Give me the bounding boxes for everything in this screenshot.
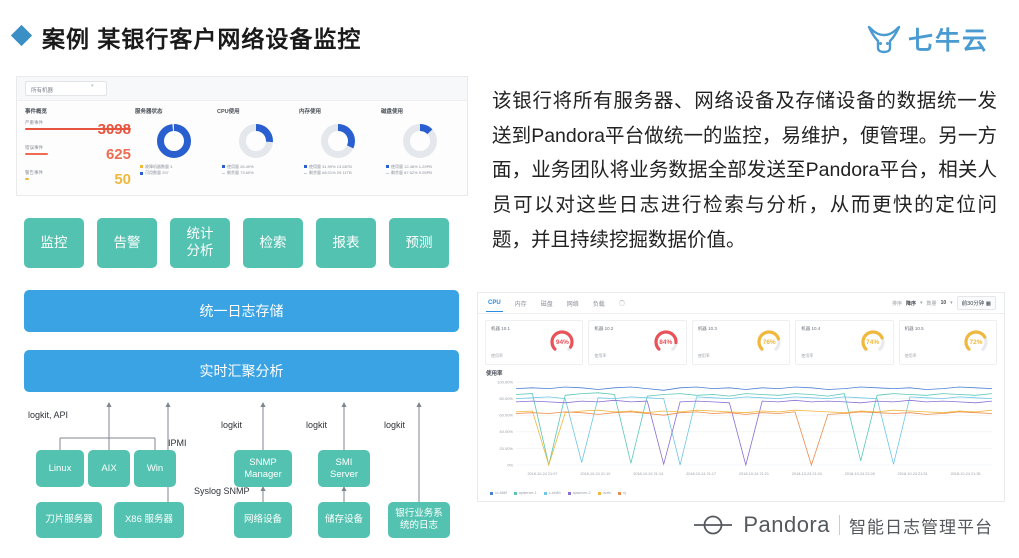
- tab-disk[interactable]: 磁盘: [541, 299, 553, 308]
- architecture-node-label: Linux: [49, 463, 72, 475]
- sort-value[interactable]: 降序: [906, 300, 916, 307]
- dashboard-body: 事件概览 严重事件3098错误事件625警告事件50 服务器状态故障机器数量 3…: [17, 101, 467, 195]
- protocol-label: Syslog SNMP: [194, 486, 250, 496]
- gauge-card-sub: 使用率: [698, 353, 710, 359]
- chevron-down-icon: ▾: [950, 300, 953, 306]
- gauge-graphic: 72%: [961, 327, 991, 362]
- architecture-node-label: 网络设备: [244, 514, 282, 526]
- donut-graphic: [135, 118, 213, 164]
- diamond-icon: [11, 25, 32, 46]
- realtime-analysis-label: 实时汇聚分析: [200, 361, 284, 381]
- protocol-label: logkit: [306, 420, 327, 430]
- donut-legend-item: 剩余量 87.52% 9.05PB: [386, 170, 459, 176]
- donut-graphic: [217, 118, 295, 164]
- capability-label: 检索: [260, 235, 287, 252]
- donut-title: CPU使用: [217, 107, 295, 115]
- svg-text:2018-10-24 21:17: 2018-10-24 21:17: [686, 472, 716, 476]
- capability-label: 告警: [114, 235, 141, 252]
- capability-monitor[interactable]: 监控: [24, 218, 84, 268]
- architecture-node[interactable]: 储存设备: [318, 502, 370, 538]
- event-overview-title: 事件概览: [25, 107, 131, 115]
- gauge-card-sub: 使用率: [905, 353, 917, 359]
- legend-item[interactable]: apiserver-1: [514, 491, 537, 495]
- logo-text: 七牛云: [908, 21, 989, 57]
- gauge-card[interactable]: 机器 10.4使用率74%: [795, 320, 893, 365]
- capability-label: 预测: [406, 235, 433, 252]
- svg-text:0%: 0%: [507, 462, 513, 467]
- unified-log-storage-bar[interactable]: 统一日志存储: [24, 290, 459, 332]
- svg-text:2018-10-24 21:31: 2018-10-24 21:31: [898, 472, 928, 476]
- protocol-label: logkit, API: [28, 410, 68, 420]
- count-value[interactable]: 10: [941, 300, 947, 306]
- gauge-value: 74%: [858, 339, 888, 346]
- machine-selector[interactable]: 所有机器: [25, 81, 107, 96]
- legend-item[interactable]: c-ldn6h: [544, 491, 561, 495]
- architecture-node[interactable]: Linux: [36, 450, 84, 487]
- time-range-picker[interactable]: 前30分钟 ▦: [957, 296, 996, 310]
- donut-card: CPU使用使用量 26.40%剩余量 73.60%: [213, 107, 295, 195]
- svg-text:100.00%: 100.00%: [497, 379, 513, 384]
- svg-text:2018-10-24 21:28: 2018-10-24 21:28: [845, 472, 875, 476]
- gauge-value: 76%: [754, 339, 784, 346]
- protocol-label: logkit: [221, 420, 242, 430]
- gauge-card-name: 机器 10.4: [801, 326, 820, 332]
- architecture-node-label: 银行业务系统的日志: [395, 508, 443, 532]
- chevron-down-icon: ▾: [91, 83, 94, 89]
- legend-item[interactable]: cc-686f: [490, 491, 507, 495]
- architecture-node[interactable]: SMIServer: [318, 450, 370, 487]
- gauge-graphic: 76%: [754, 327, 784, 362]
- svg-text:40.00%: 40.00%: [499, 429, 513, 434]
- capability-forecast[interactable]: 预测: [389, 218, 449, 268]
- architecture-node-label: X86 服务器: [125, 514, 173, 526]
- gauge-card[interactable]: 机器 10.2使用率84%: [588, 320, 686, 365]
- chart-controls: 排序 降序 ▾ 数量 10 ▾ 前30分钟 ▦: [892, 296, 996, 310]
- donut-charts: 服务器状态故障机器数量 3可用数量 257CPU使用使用量 26.40%剩余量 …: [131, 107, 459, 195]
- capability-label: 报表: [333, 235, 360, 252]
- gauge-card[interactable]: 机器 10.5使用率72%: [899, 320, 997, 365]
- metric-gauge-cards: 机器 10.1使用率94%机器 10.2使用率84%机器 10.3使用率76%机…: [478, 314, 1004, 369]
- legend-item[interactable]: apiserver-2: [568, 491, 591, 495]
- gauge-card[interactable]: 机器 10.3使用率76%: [692, 320, 790, 365]
- svg-text:20.00%: 20.00%: [499, 446, 513, 451]
- donut-legend-item: 可用数量 257: [140, 170, 213, 176]
- brand-logo: 七牛云: [867, 21, 989, 57]
- svg-text:2018-10-24 21:10: 2018-10-24 21:10: [580, 472, 610, 476]
- page-header: 案例 某银行客户网络设备监控 七牛云: [0, 0, 1019, 68]
- usage-line-chart: 使用率 0%20.00%40.00%60.00%80.00%100.00%201…: [478, 369, 1004, 479]
- machine-selector-value: 所有机器: [31, 88, 53, 94]
- architecture-node-label: Win: [147, 463, 163, 475]
- architecture-node-label: 刀片服务器: [45, 514, 93, 526]
- left-dashboard-screenshot: 所有机器 ▾ 事件概览 严重事件3098错误事件625警告事件50 服务器状态故…: [16, 76, 468, 196]
- architecture-node[interactable]: AIX: [88, 450, 130, 487]
- capability-label: 统计分析: [187, 226, 214, 260]
- gauge-value: 84%: [651, 339, 681, 346]
- saturn-ring-icon: [692, 513, 734, 537]
- donut-card: 磁盘使用使用量 12.48% 1.29PB剩余量 87.52% 9.05PB: [377, 107, 459, 195]
- gauge-graphic: 74%: [858, 327, 888, 362]
- divider: [839, 515, 840, 535]
- dashboard-toolbar: 所有机器 ▾: [17, 77, 467, 101]
- donut-title: 内存使用: [299, 107, 377, 115]
- donut-title: 磁盘使用: [381, 107, 459, 115]
- donut-card: 服务器状态故障机器数量 3可用数量 257: [131, 107, 213, 195]
- realtime-analysis-bar[interactable]: 实时汇聚分析: [24, 350, 459, 392]
- event-bar: [25, 153, 48, 155]
- bull-head-icon: [867, 24, 901, 54]
- donut-graphic: [381, 118, 459, 164]
- gauge-card[interactable]: 机器 10.1使用率94%: [485, 320, 583, 365]
- architecture-diagram: logkit, APIIPMIlogkitlogkitlogkitSyslog …: [16, 400, 471, 555]
- event-value: 50: [114, 172, 131, 187]
- gauge-value: 94%: [547, 339, 577, 346]
- event-value: 625: [106, 147, 131, 162]
- gauge-graphic: 84%: [651, 327, 681, 362]
- description-paragraph: 该银行将所有服务器、网络设备及存储设备的数据统一发送到Pandora平台做统一的…: [492, 84, 997, 258]
- gauge-card-name: 机器 10.1: [491, 326, 510, 332]
- protocol-label: IPMI: [168, 438, 187, 448]
- chevron-down-icon: ▾: [920, 300, 923, 306]
- donut-graphic: [299, 118, 377, 164]
- event-row: 警告事件50: [25, 170, 131, 195]
- spinner-icon: [619, 300, 625, 306]
- architecture-node[interactable]: Win: [134, 450, 176, 487]
- tab-load[interactable]: 负载: [593, 299, 605, 308]
- architecture-node[interactable]: X86 服务器: [114, 502, 184, 538]
- architecture-node[interactable]: SNMPManager: [234, 450, 292, 487]
- pandora-footer: Pandora 智能日志管理平台: [692, 512, 993, 538]
- svg-text:2018-10-24 21:24: 2018-10-24 21:24: [792, 472, 822, 476]
- donut-card: 内存使用使用量 31.99% 13.68TB剩余量 68.01% 29.11TB: [295, 107, 377, 195]
- chart-plot-area: 0%20.00%40.00%60.00%80.00%100.00%2018-10…: [486, 379, 996, 479]
- gauge-card-sub: 使用率: [594, 353, 606, 359]
- architecture-node[interactable]: 刀片服务器: [36, 502, 102, 538]
- capability-buttons: 监控 告警 统计分析 检索 报表 预测: [24, 218, 449, 268]
- gauge-card-name: 机器 10.2: [594, 326, 613, 332]
- pandora-tagline: 智能日志管理平台: [849, 513, 993, 538]
- donut-legend-item: 剩余量 73.60%: [222, 170, 295, 176]
- event-overview-panel: 事件概览 严重事件3098错误事件625警告事件50: [25, 107, 131, 195]
- gauge-card-name: 机器 10.5: [905, 326, 924, 332]
- gauge-card-sub: 使用率: [491, 353, 503, 359]
- capability-search[interactable]: 检索: [243, 218, 303, 268]
- architecture-node-label: 储存设备: [325, 514, 363, 526]
- architecture-node-label: SNMPManager: [244, 457, 282, 481]
- event-rows: 严重事件3098错误事件625警告事件50: [25, 120, 131, 195]
- svg-text:2018-10-24 21:14: 2018-10-24 21:14: [633, 472, 663, 476]
- page-title: 案例 某银行客户网络设备监控: [42, 20, 361, 54]
- svg-text:60.00%: 60.00%: [499, 413, 513, 418]
- sort-label: 排序: [892, 300, 902, 307]
- event-row: 错误事件625: [25, 145, 131, 170]
- capability-statistics[interactable]: 统计分析: [170, 218, 230, 268]
- chart-legend: cc-686fapiserver-1c-ldn6hapiserver-2uvzf…: [490, 491, 994, 495]
- unified-log-storage-label: 统一日志存储: [200, 301, 284, 321]
- tab-memory[interactable]: 内存: [515, 299, 527, 308]
- protocol-label: logkit: [384, 420, 405, 430]
- tab-network[interactable]: 网络: [567, 299, 579, 308]
- event-value: 3098: [98, 122, 131, 137]
- count-label: 数量: [927, 300, 937, 307]
- capability-label: 监控: [41, 235, 68, 252]
- svg-text:2018-10-24 21:21: 2018-10-24 21:21: [739, 472, 769, 476]
- legend-item[interactable]: uvzfs: [598, 491, 611, 495]
- gauge-card-name: 机器 10.3: [698, 326, 717, 332]
- donut-title: 服务器状态: [135, 107, 213, 115]
- architecture-node-label: SMIServer: [330, 457, 358, 481]
- gauge-graphic: 94%: [547, 327, 577, 362]
- gauge-card-sub: 使用率: [801, 353, 813, 359]
- right-dashboard-screenshot: CPU 内存 磁盘 网络 负载 排序 降序 ▾ 数量 10 ▾ 前30分钟 ▦ …: [477, 292, 1005, 502]
- svg-text:2018-10-24 21:35: 2018-10-24 21:35: [951, 472, 981, 476]
- tab-cpu[interactable]: CPU: [488, 300, 501, 306]
- legend-item[interactable]: nj: [618, 491, 626, 495]
- architecture-node[interactable]: 银行业务系统的日志: [388, 502, 450, 538]
- event-row: 严重事件3098: [25, 120, 131, 145]
- architecture-node-label: AIX: [101, 463, 116, 475]
- chart-title: 使用率: [486, 369, 996, 377]
- donut-legend-item: 剩余量 68.01% 29.11TB: [304, 170, 377, 176]
- metric-tabs: CPU 内存 磁盘 网络 负载 排序 降序 ▾ 数量 10 ▾ 前30分钟 ▦: [478, 293, 1004, 314]
- svg-text:2018-10-24 21:07: 2018-10-24 21:07: [527, 472, 557, 476]
- event-bar: [25, 178, 29, 180]
- pandora-brand: Pandora: [743, 512, 830, 538]
- svg-text:80.00%: 80.00%: [499, 396, 513, 401]
- gauge-value: 72%: [961, 339, 991, 346]
- capability-report[interactable]: 报表: [316, 218, 376, 268]
- architecture-node[interactable]: 网络设备: [234, 502, 292, 538]
- capability-alert[interactable]: 告警: [97, 218, 157, 268]
